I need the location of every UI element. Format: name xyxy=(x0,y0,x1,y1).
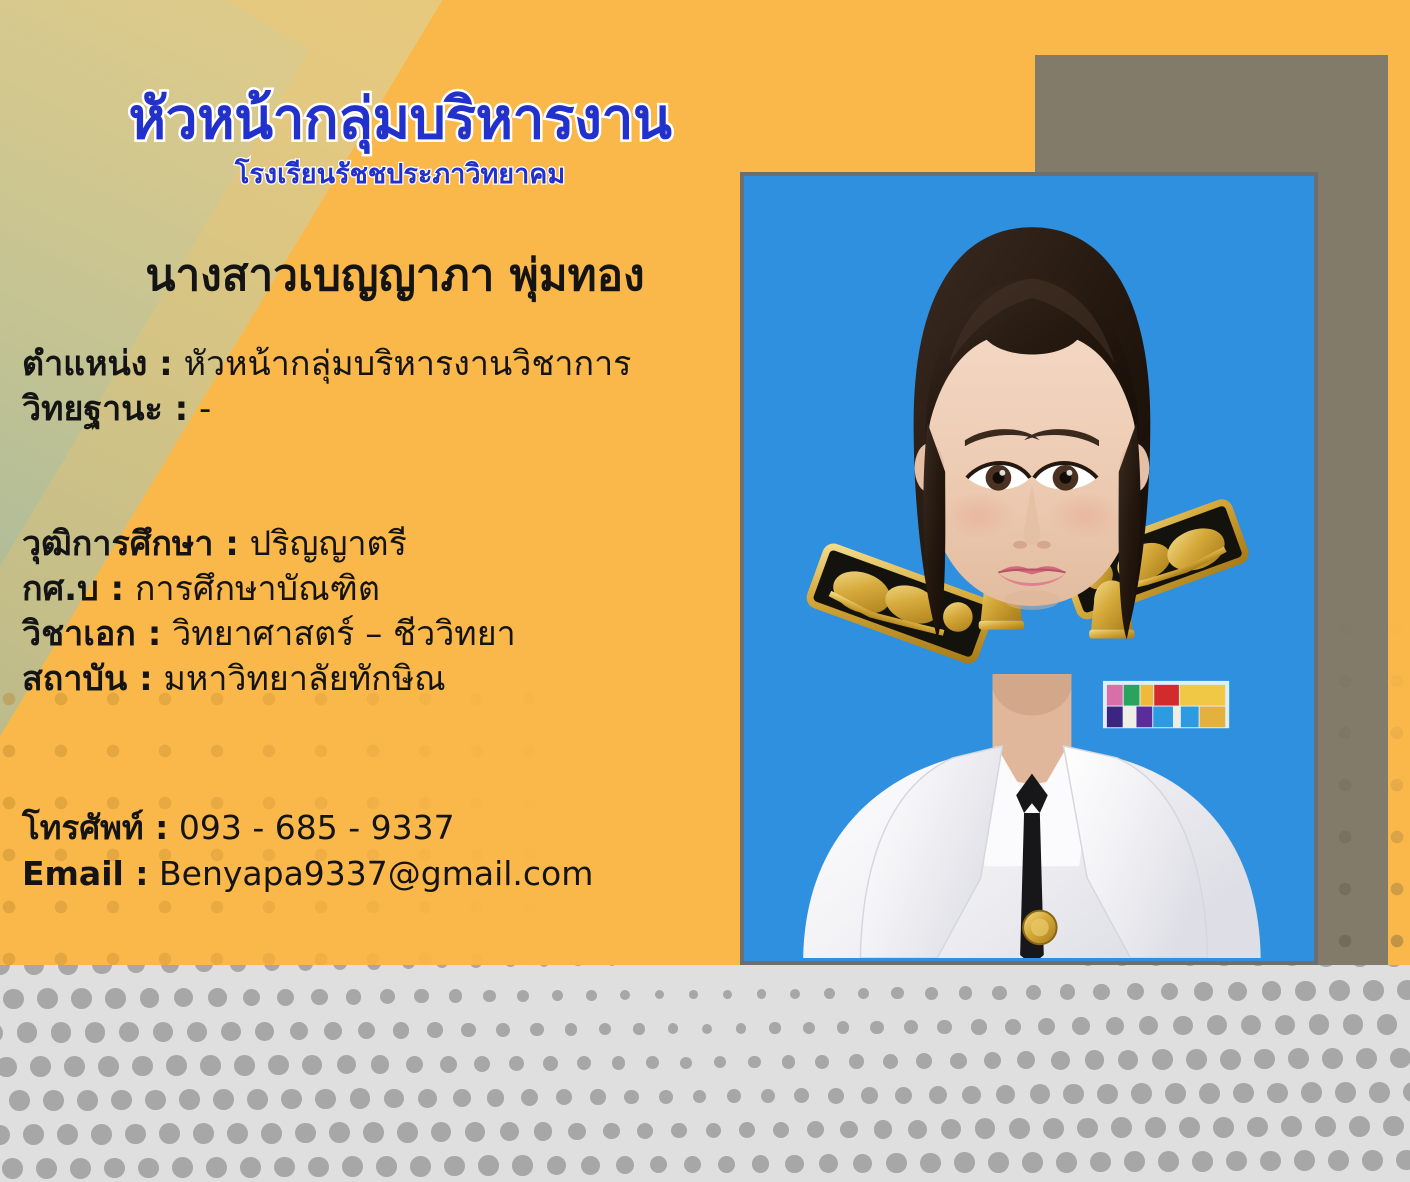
info-value: - xyxy=(199,389,211,429)
info-label: สถาบัน : xyxy=(22,659,153,699)
info-row-email: Email : Benyapa9337@gmail.com xyxy=(22,851,593,897)
info-value: วิทยาศาสตร์ – ชีววิทยา xyxy=(172,614,516,654)
info-label: กศ.บ : xyxy=(22,569,124,609)
position-info-group: ตำแหน่ง : หัวหน้ากลุ่มบริหารงานวิชาการ ว… xyxy=(22,342,631,432)
info-row-institution: สถาบัน : มหาวิทยาลัยทักษิณ xyxy=(22,657,516,702)
info-row-position: ตำแหน่ง : หัวหน้ากลุ่มบริหารงานวิชาการ xyxy=(22,342,631,387)
info-label: วิชาเอก : xyxy=(22,614,161,654)
info-label: วุฒิการศึกษา : xyxy=(22,524,239,564)
info-row-degree-level: วุฒิการศึกษา : ปริญญาตรี xyxy=(22,522,516,567)
info-row-degree-name: กศ.บ : การศึกษาบัณฑิต xyxy=(22,567,516,612)
profile-card: หัวหน้ากลุ่มบริหารงาน โรงเรียนรัชชประภาว… xyxy=(0,0,1410,1182)
info-row-academic-standing: วิทยฐานะ : - xyxy=(22,387,631,432)
contact-info-group: โทรศัพท์ : 093 - 685 - 9337 Email : Beny… xyxy=(22,805,593,897)
info-label: โทรศัพท์ : xyxy=(22,808,168,847)
page-title: หัวหน้ากลุ่มบริหารงาน xyxy=(0,74,800,164)
info-value: การศึกษาบัณฑิต xyxy=(135,569,380,609)
info-value: ปริญญาตรี xyxy=(250,524,407,564)
info-value: หัวหน้ากลุ่มบริหารงานวิชาการ xyxy=(184,344,632,384)
info-row-phone: โทรศัพท์ : 093 - 685 - 9337 xyxy=(22,805,593,851)
info-value: มหาวิทยาลัยทักษิณ xyxy=(164,659,446,699)
phone-value: 093 - 685 - 9337 xyxy=(179,808,455,847)
info-row-major: วิชาเอก : วิทยาศาสตร์ – ชีววิทยา xyxy=(22,612,516,657)
info-label: Email : xyxy=(22,854,149,893)
person-name: นางสาวเบญญาภา พุ่มทอง xyxy=(0,240,790,310)
email-value: Benyapa9337@gmail.com xyxy=(159,854,593,893)
bottom-halftone-strip xyxy=(0,965,1410,1182)
school-subtitle: โรงเรียนรัชชประภาวิทยาคม xyxy=(0,152,800,195)
education-info-group: วุฒิการศึกษา : ปริญญาตรี กศ.บ : การศึกษา… xyxy=(22,522,516,702)
halftone-dot-pattern xyxy=(0,965,1410,1182)
info-label: วิทยฐานะ : xyxy=(22,389,188,429)
info-label: ตำแหน่ง : xyxy=(22,344,173,384)
